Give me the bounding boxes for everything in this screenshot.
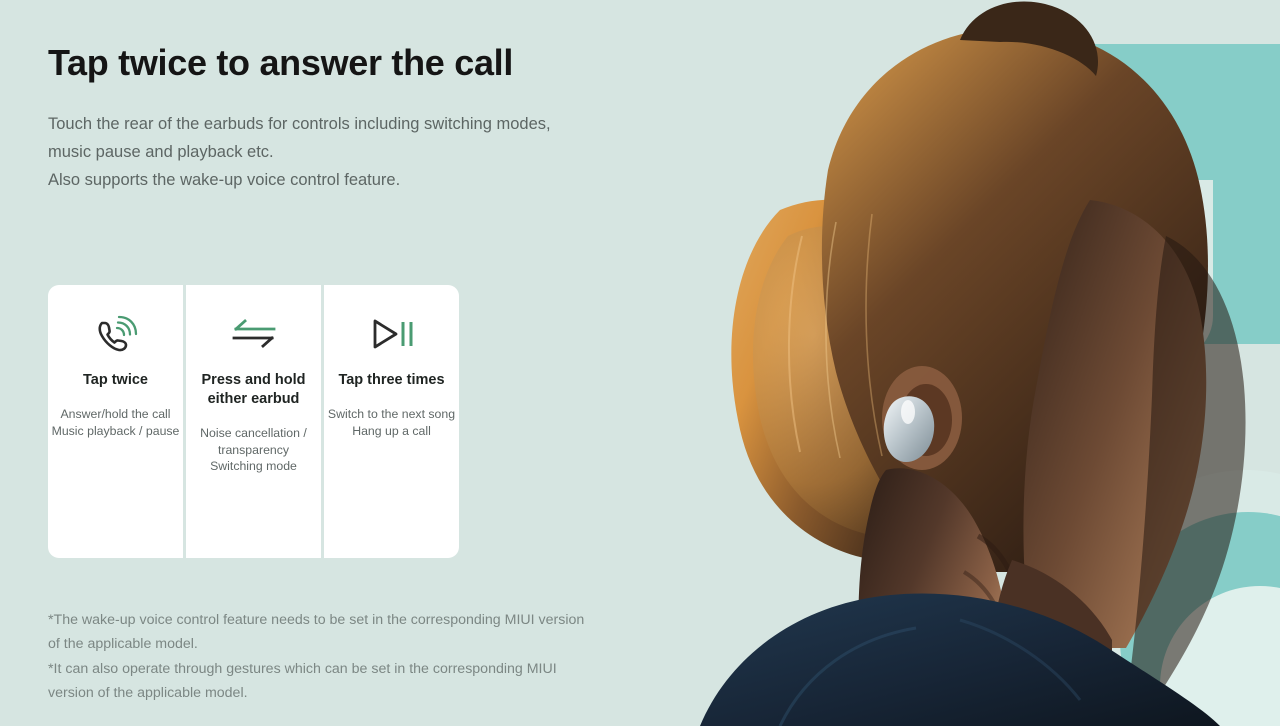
switch-arrows-icon	[230, 311, 278, 357]
feature-card-description: Switch to the next song Hang up a call	[317, 406, 467, 439]
feature-card-press-hold[interactable]: Press and hold either earbud Noise cance…	[186, 285, 321, 558]
play-pause-icon	[368, 311, 416, 357]
feature-card-description: Answer/hold the call Music playback / pa…	[41, 406, 191, 439]
feature-cards: Tap twice Answer/hold the call Music pla…	[48, 285, 458, 558]
content-column: Tap twice to answer the call Touch the r…	[48, 0, 708, 726]
feature-card-title: Tap twice	[79, 371, 152, 390]
page-title: Tap twice to answer the call	[48, 42, 708, 83]
model-photo	[660, 0, 1280, 726]
feature-card-tap-three[interactable]: Tap three times Switch to the next song …	[324, 285, 459, 558]
subcopy: Touch the rear of the earbuds for contro…	[48, 111, 698, 194]
phone-ringing-icon	[93, 311, 139, 357]
subcopy-line-3: Also supports the wake-up voice control …	[48, 167, 698, 195]
footnote-2: *It can also operate through gestures wh…	[48, 657, 584, 706]
footnote-1: *The wake-up voice control feature needs…	[48, 608, 584, 657]
feature-card-tap-twice[interactable]: Tap twice Answer/hold the call Music pla…	[48, 285, 183, 558]
subcopy-line-1: Touch the rear of the earbuds for contro…	[48, 111, 698, 139]
feature-card-description: Noise cancellation / transparency Switch…	[179, 425, 329, 475]
footnotes: *The wake-up voice control feature needs…	[48, 608, 584, 706]
feature-card-title: Tap three times	[334, 371, 448, 390]
feature-card-title: Press and hold either earbud	[198, 371, 310, 409]
subcopy-line-2: music pause and playback etc.	[48, 139, 698, 167]
promo-page: Tap twice to answer the call Touch the r…	[0, 0, 1280, 726]
